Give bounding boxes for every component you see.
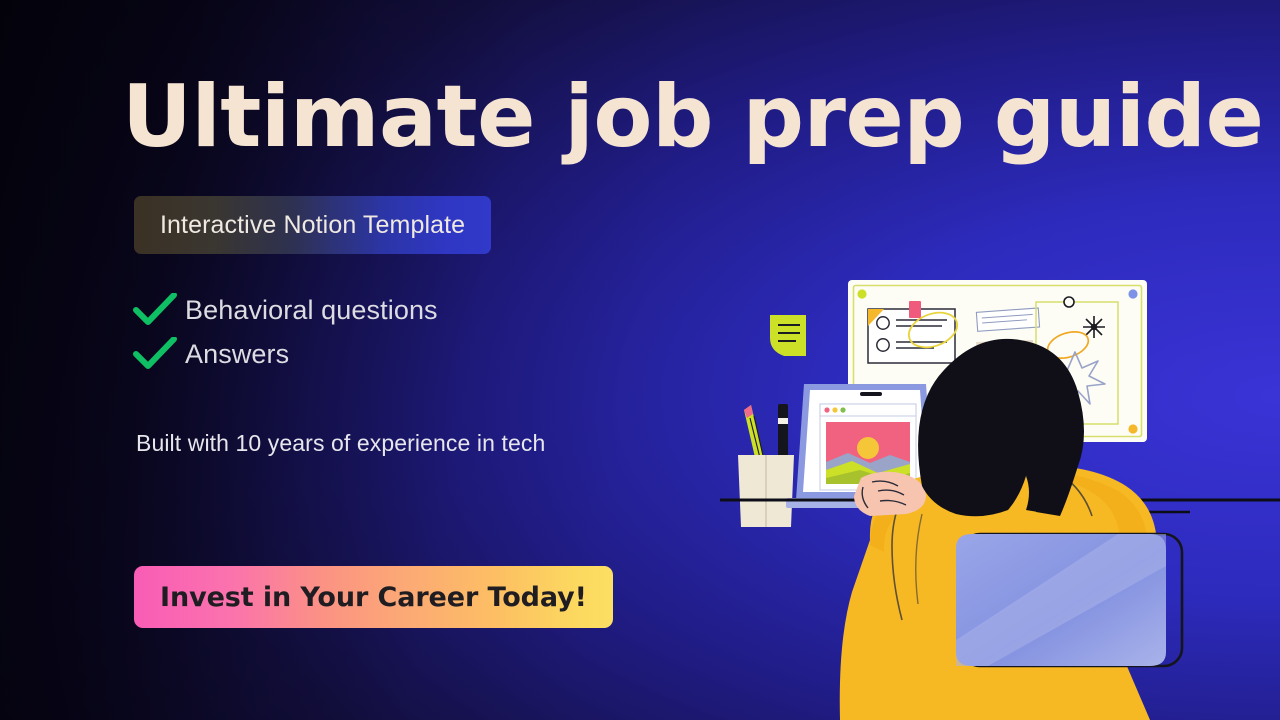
- list-item: Answers: [133, 332, 438, 376]
- tagline: Built with 10 years of experience in tec…: [136, 430, 545, 457]
- lined-note: [976, 308, 1039, 331]
- board-corner-dot-yellow: [1128, 424, 1137, 433]
- board-corner-dot-green: [857, 289, 866, 298]
- chair-back: [956, 534, 1182, 666]
- panel-pin: [1064, 297, 1074, 307]
- cta-button[interactable]: Invest in Your Career Today!: [134, 566, 613, 628]
- page-title: Ultimate job prep guide: [122, 74, 1202, 160]
- check-icon: [133, 293, 185, 327]
- status-badge: Interactive Notion Template: [134, 196, 491, 254]
- feature-label: Answers: [185, 339, 289, 370]
- sticky-note-wall: [770, 315, 806, 356]
- browser-dot-green: [840, 407, 845, 412]
- pink-tape: [909, 301, 921, 318]
- pencil-cup: [738, 404, 794, 527]
- sun: [857, 437, 879, 459]
- browser-dot-yellow: [832, 407, 837, 412]
- browser-dot-red: [824, 407, 829, 412]
- laptop-camera-bar: [860, 392, 882, 396]
- banner-content: Ultimate job prep guide Interactive Noti…: [0, 0, 720, 720]
- board-corner-dot-blue: [1128, 289, 1137, 298]
- promo-banner: Ultimate job prep guide Interactive Noti…: [0, 0, 1280, 720]
- cta-label: Invest in Your Career Today!: [160, 582, 587, 613]
- feature-list: Behavioral questions Answers: [133, 288, 438, 376]
- badge-label: Interactive Notion Template: [160, 211, 465, 240]
- list-item: Behavioral questions: [133, 288, 438, 332]
- feature-label: Behavioral questions: [185, 295, 438, 326]
- check-icon: [133, 337, 185, 371]
